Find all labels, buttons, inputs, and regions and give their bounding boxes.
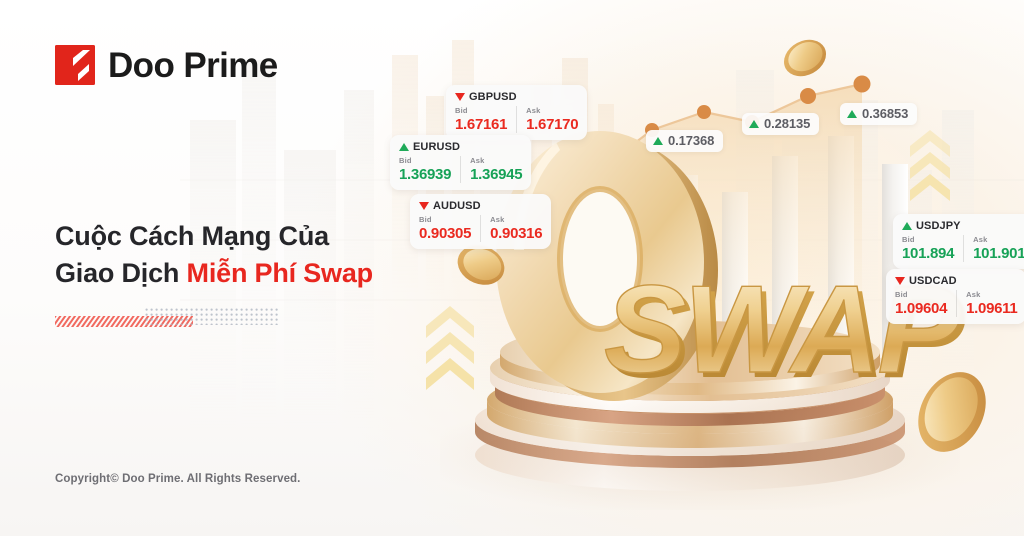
quote-card-header: EURUSD — [399, 141, 522, 153]
ask-value: 1.36945 — [470, 166, 522, 183]
quote-ask-col: Ask 1.09611 — [956, 290, 1017, 317]
ask-value: 1.09611 — [966, 300, 1017, 317]
bid-label: Bid — [455, 106, 507, 116]
chevron-up-icon-right — [908, 128, 952, 204]
quote-symbol: USDJPY — [916, 220, 961, 232]
bid-value: 101.894 — [902, 245, 954, 262]
headline-line-2-accent: Miễn Phí Swap — [187, 258, 373, 288]
bid-label: Bid — [419, 215, 471, 225]
quote-card-body: Bid 101.894 Ask 101.901 — [902, 235, 1024, 262]
quote-card-eurusd[interactable]: EURUSD Bid 1.36939 Ask 1.36945 — [390, 135, 531, 190]
quote-card-header: AUDUSD — [419, 200, 542, 212]
quote-symbol: AUDUSD — [433, 200, 481, 212]
ask-label: Ask — [490, 215, 542, 225]
headline-line-2-plain: Giao Dịch — [55, 258, 187, 288]
quote-card-usdcad[interactable]: USDCAD Bid 1.09604 Ask 1.09611 — [886, 269, 1024, 324]
quote-bid-col: Bid 1.36939 — [399, 156, 451, 183]
triangle-up-icon — [749, 120, 759, 128]
quote-bid-col: Bid 1.09604 — [895, 290, 947, 317]
floor-shadow — [440, 400, 960, 510]
ask-label: Ask — [470, 156, 522, 166]
quote-card-body: Bid 1.09604 Ask 1.09611 — [895, 290, 1017, 317]
headline-line-2: Giao Dịch Miễn Phí Swap — [55, 255, 475, 292]
triangle-up-icon — [902, 222, 912, 230]
triangle-down-icon — [419, 202, 429, 210]
ask-value: 1.67170 — [526, 116, 578, 133]
chart-label-value: 0.17368 — [668, 133, 714, 148]
decorative-rule — [55, 308, 280, 330]
bid-value: 1.67161 — [455, 116, 507, 133]
ask-label: Ask — [973, 235, 1024, 245]
bid-label: Bid — [399, 156, 451, 166]
gold-coin-icon-bottom — [905, 360, 999, 463]
quote-card-gbpusd[interactable]: GBPUSD Bid 1.67161 Ask 1.67170 — [446, 85, 587, 140]
quote-bid-col: Bid 1.67161 — [455, 106, 507, 133]
quote-card-header: USDCAD — [895, 275, 1017, 287]
quote-card-body: Bid 1.67161 Ask 1.67170 — [455, 106, 578, 133]
brand-logo[interactable]: Doo Prime — [55, 45, 278, 85]
quote-bid-col: Bid 101.894 — [902, 235, 954, 262]
bid-value: 1.09604 — [895, 300, 947, 317]
ask-value: 101.901 — [973, 245, 1024, 262]
ask-label: Ask — [526, 106, 578, 116]
triangle-up-icon — [399, 143, 409, 151]
brand-name: Doo Prime — [108, 48, 278, 83]
bid-value: 1.36939 — [399, 166, 451, 183]
triangle-down-icon — [895, 277, 905, 285]
triangle-up-icon — [847, 110, 857, 118]
quote-ask-col: Ask 101.901 — [963, 235, 1024, 262]
quote-card-audusd[interactable]: AUDUSD Bid 0.90305 Ask 0.90316 — [410, 194, 551, 249]
quote-card-body: Bid 1.36939 Ask 1.36945 — [399, 156, 522, 183]
bid-value: 0.90305 — [419, 225, 471, 242]
quote-ask-col: Ask 1.36945 — [460, 156, 522, 183]
quote-card-header: USDJPY — [902, 220, 1024, 232]
chart-label-2: 0.28135 — [742, 113, 819, 135]
triangle-up-icon — [653, 137, 663, 145]
quote-symbol: EURUSD — [413, 141, 460, 153]
triangle-down-icon — [455, 93, 465, 101]
chart-label-1: 0.17368 — [646, 130, 723, 152]
quote-card-body: Bid 0.90305 Ask 0.90316 — [419, 215, 542, 242]
quote-symbol: USDCAD — [909, 275, 957, 287]
chart-label-value: 0.36853 — [862, 106, 908, 121]
copyright-text: Copyright© Doo Prime. All Rights Reserve… — [55, 473, 300, 485]
chevron-up-icon-left — [424, 304, 476, 392]
chart-label-value: 0.28135 — [764, 116, 810, 131]
quote-bid-col: Bid 0.90305 — [419, 215, 471, 242]
doo-prime-logomark-icon — [55, 45, 95, 85]
quote-card-header: GBPUSD — [455, 91, 578, 103]
quote-ask-col: Ask 0.90316 — [480, 215, 542, 242]
bid-label: Bid — [895, 290, 947, 300]
quote-ask-col: Ask 1.67170 — [516, 106, 578, 133]
promo-banner: SWAP SWAP Doo Prime Cuộc Cách Mạng Của G… — [0, 0, 1024, 536]
quote-card-usdjpy[interactable]: USDJPY Bid 101.894 Ask 101.901 — [893, 214, 1024, 269]
ask-value: 0.90316 — [490, 225, 542, 242]
chart-label-3: 0.36853 — [840, 103, 917, 125]
bid-label: Bid — [902, 235, 954, 245]
quote-symbol: GBPUSD — [469, 91, 517, 103]
ask-label: Ask — [966, 290, 1017, 300]
